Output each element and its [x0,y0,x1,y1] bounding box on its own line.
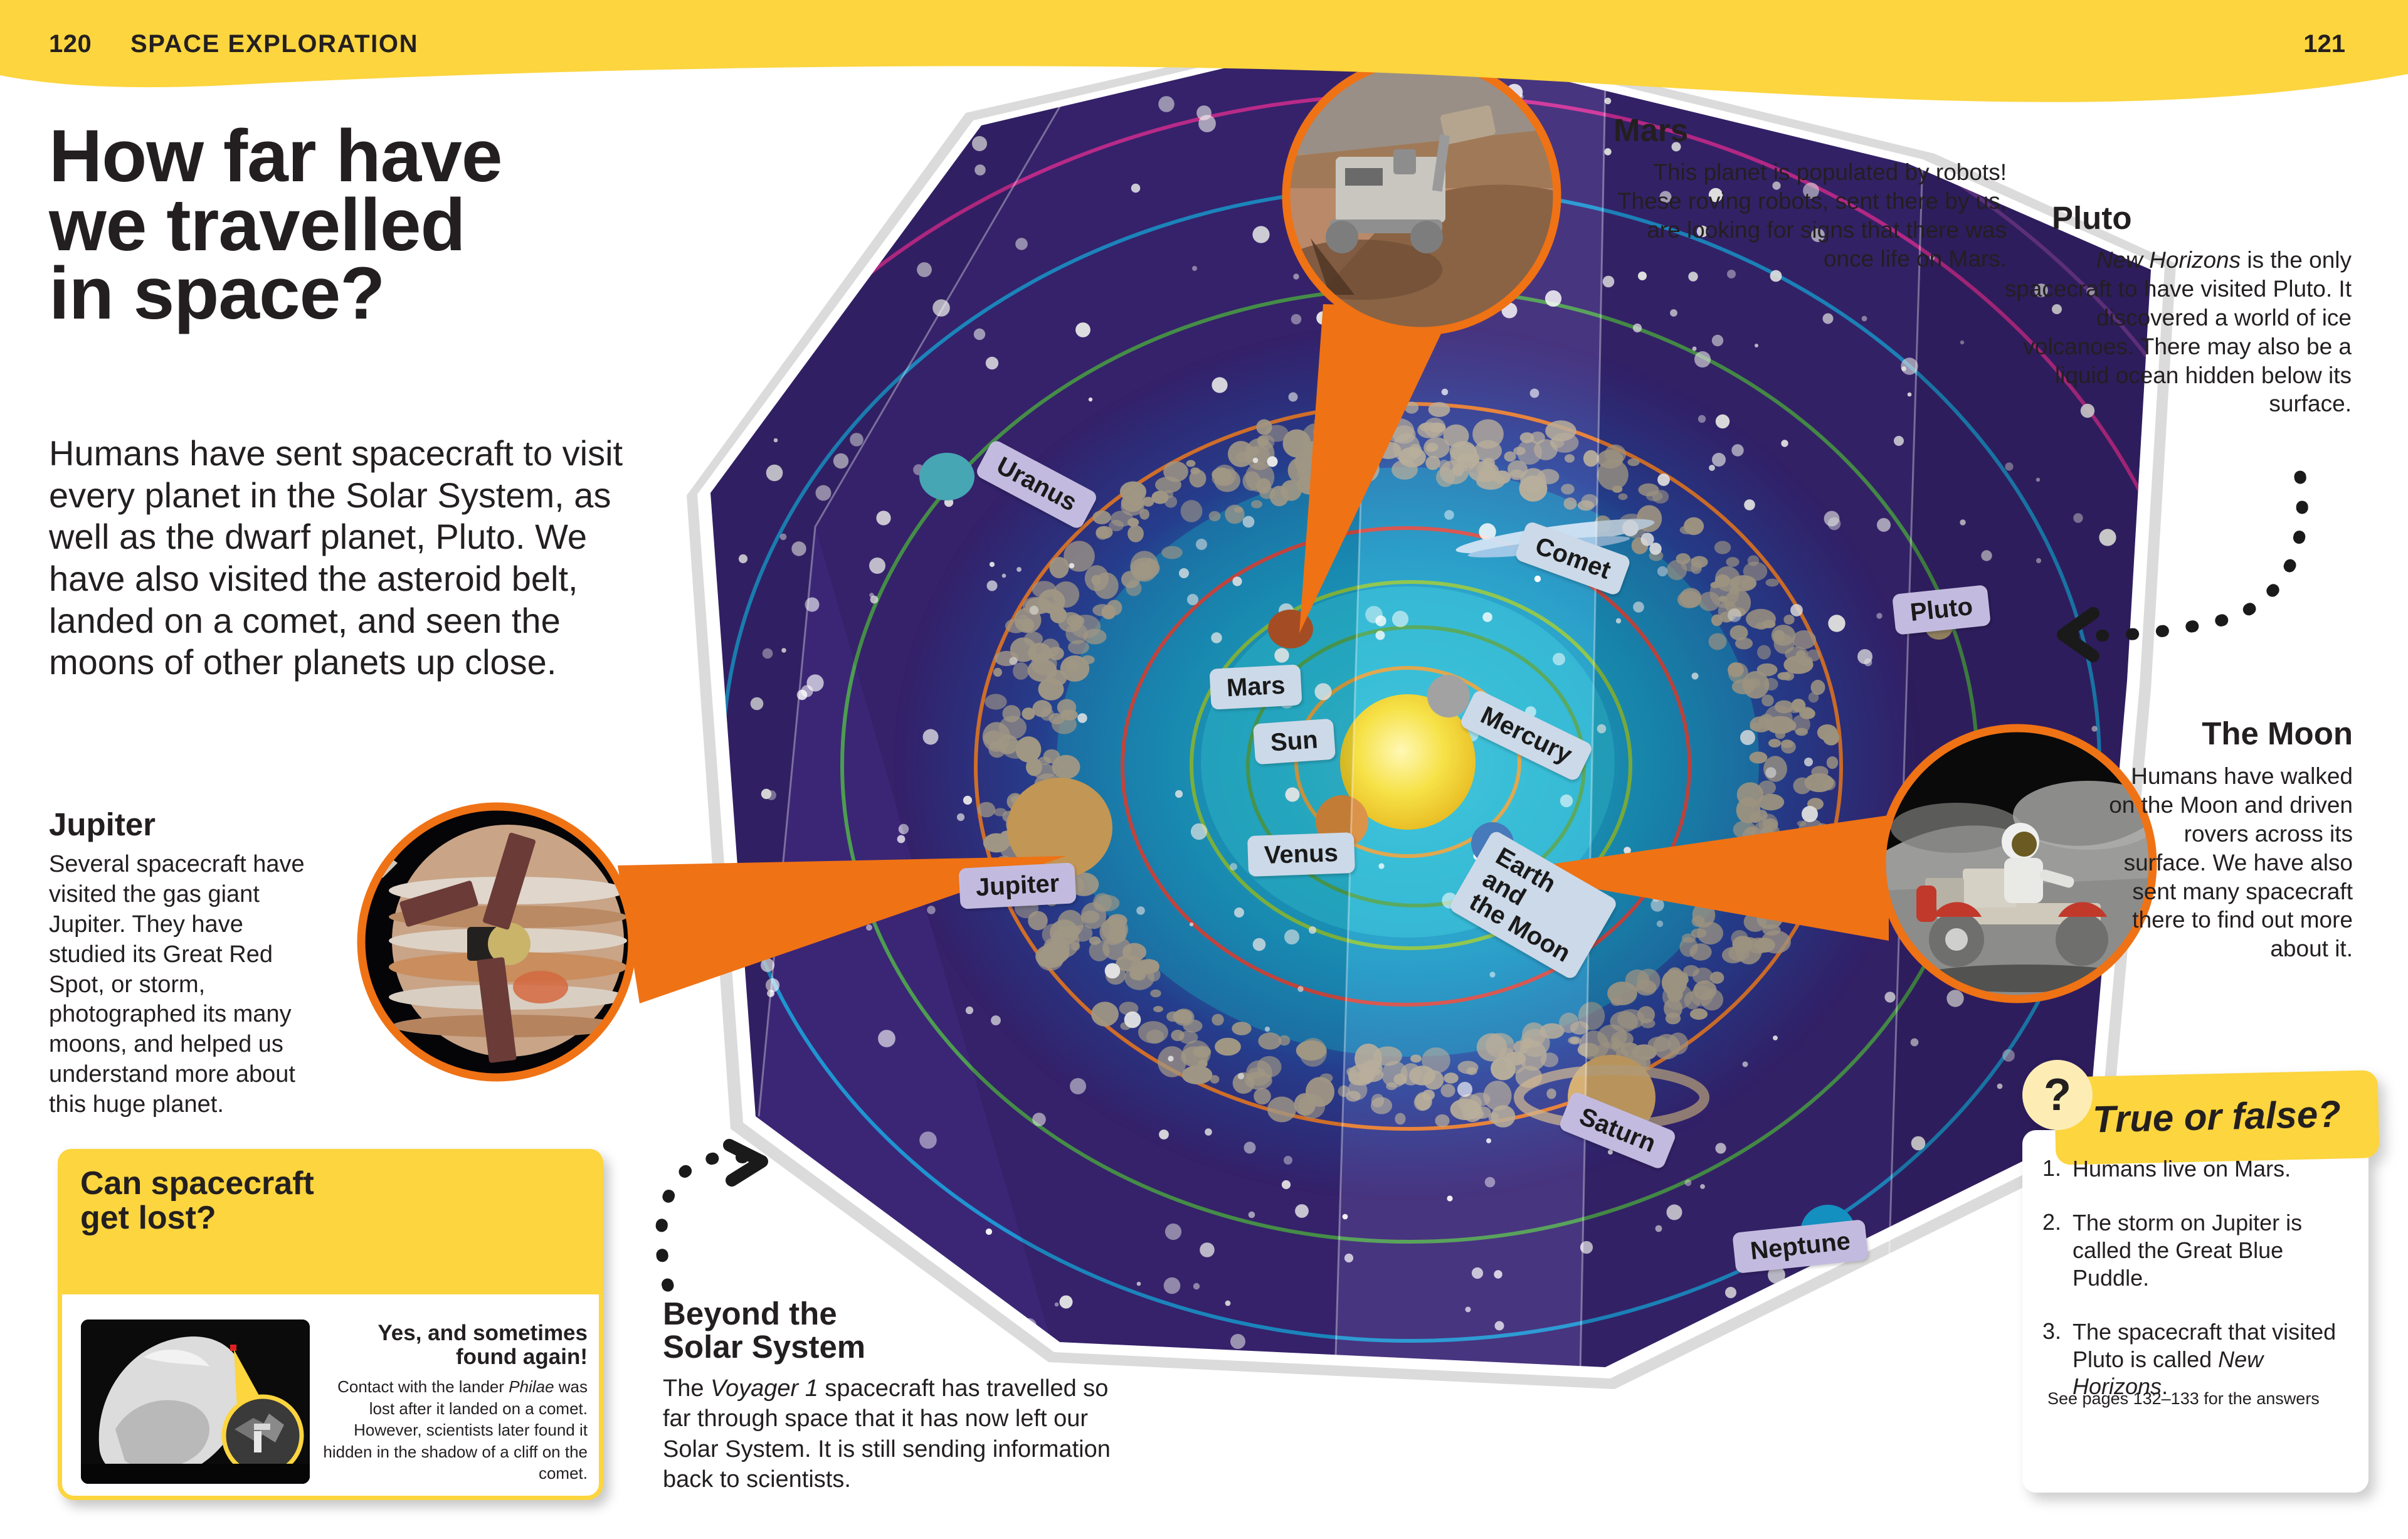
page-number-left: 120 [49,30,92,58]
tf-title: True or false? [2054,1081,2379,1151]
planet-label-text: Sun [1270,726,1319,756]
beyond-heading-line-1: Beyond the [663,1297,865,1330]
tf-item-number: 3. [2036,1318,2073,1401]
panel-answer-heading: Yes, and sometimes found again! [321,1321,588,1369]
tf-question-list: 1.Humans live on Mars.2.The storm on Jup… [2036,1155,2356,1427]
intro-paragraph: Humans have sent spacecraft to visit eve… [49,433,638,684]
beyond-body-italic: Voyager 1 [710,1375,818,1402]
panel-title: Can spacecraft get lost? [80,1166,519,1235]
jupiter-caption-body: Several spacecraft have visited the gas … [49,850,319,1120]
planet-label-jupiter: Jupiter [958,862,1077,909]
tf-item-number: 1. [2036,1155,2073,1183]
pluto-body-italic: New Horizons [2096,247,2241,273]
panel-title-line-2: get lost? [80,1201,519,1235]
planet-label-text: Venus [1264,839,1338,869]
planet-label-venus: Venus [1247,832,1355,877]
tf-item-number: 2. [2036,1209,2073,1292]
moon-caption-heading: The Moon [2202,715,2353,752]
jupiter-probe-photo [357,807,632,1077]
planet-label-text: Pluto [1909,593,1974,627]
panel-title-line-1: Can spacecraft [80,1166,519,1201]
answer-body-pre: Contact with the lander [337,1377,509,1396]
planet-label-text: Mars [1226,672,1286,702]
book-spread: UranusCometPlutoMarsSunMercuryVenusJupit… [0,0,2408,1539]
tf-footer: See pages 132–133 for the answers [2047,1389,2320,1409]
beyond-body-pre: The [663,1375,710,1402]
answer-heading-line-1: Yes, and sometimes [321,1321,588,1345]
planet-label-text: Neptune [1749,1227,1852,1265]
pluto-caption-body: New Horizons is the only spacecraft to h… [2000,246,2352,418]
can-spacecraft-get-lost-panel: Can spacecraft get lost? [58,1149,603,1500]
tf-list-item: 1.Humans live on Mars. [2036,1155,2356,1183]
headline-line-3: in space? [49,260,651,329]
true-or-false-panel: ? True or false? 1.Humans live on Mars.2… [2022,1060,2379,1499]
tf-item-text: The storm on Jupiter is called the Great… [2073,1209,2356,1292]
mars-caption-heading: Mars [1613,112,1688,149]
tf-item-text: The spacecraft that visited Pluto is cal… [2073,1318,2356,1401]
answer-heading-line-2: found again! [321,1345,588,1369]
jupiter-caption-heading: Jupiter [49,806,156,843]
section-title: SPACE EXPLORATION [130,30,418,58]
leader-dots-voyager [661,1145,762,1286]
planet-label-sun: Sun [1253,719,1336,765]
beyond-heading-line-2: Solar System [663,1330,865,1363]
planet-label-text: Jupiter [975,870,1060,902]
tf-list-item: 2.The storm on Jupiter is called the Gre… [2036,1209,2356,1292]
pluto-caption-heading: Pluto [2052,199,2131,236]
headline-line-1: How far have [49,122,651,191]
moon-caption-body: Humans have walked on the Moon and drive… [2105,762,2353,963]
page-title: How far have we travelled in space? [49,122,651,329]
tf-list-item: 3.The spacecraft that visited Pluto is c… [2036,1318,2356,1401]
beyond-caption-heading: Beyond the Solar System [663,1297,865,1363]
beyond-caption-body: The Voyager 1 spacecraft has travelled s… [663,1373,1114,1494]
page-number-right: 121 [2303,30,2345,58]
answer-body-italic: Philae [509,1377,554,1396]
panel-answer-body: Contact with the lander Philae was lost … [321,1376,588,1484]
mars-caption-body: This planet is populated by robots! Thes… [1605,158,2007,273]
headline-line-2: we travelled [49,191,651,260]
tf-item-text: Humans live on Mars. [2073,1155,2291,1183]
planet-label-mars: Mars [1209,664,1302,710]
comet-photo [81,1320,310,1484]
